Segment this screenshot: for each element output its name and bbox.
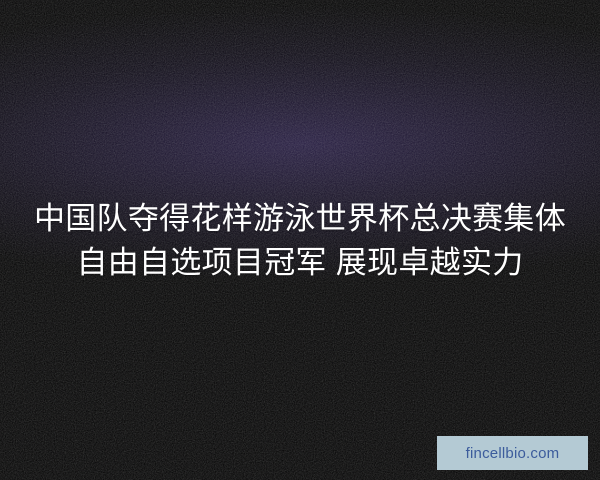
image-canvas: 中国队夺得花样游泳世界杯总决赛集体自由自选项目冠军 展现卓越实力 fincell… (0, 0, 600, 480)
watermark-label: fincellbio.com (466, 446, 560, 461)
watermark-plate: fincellbio.com (437, 436, 588, 470)
background-gradient (0, 0, 600, 480)
